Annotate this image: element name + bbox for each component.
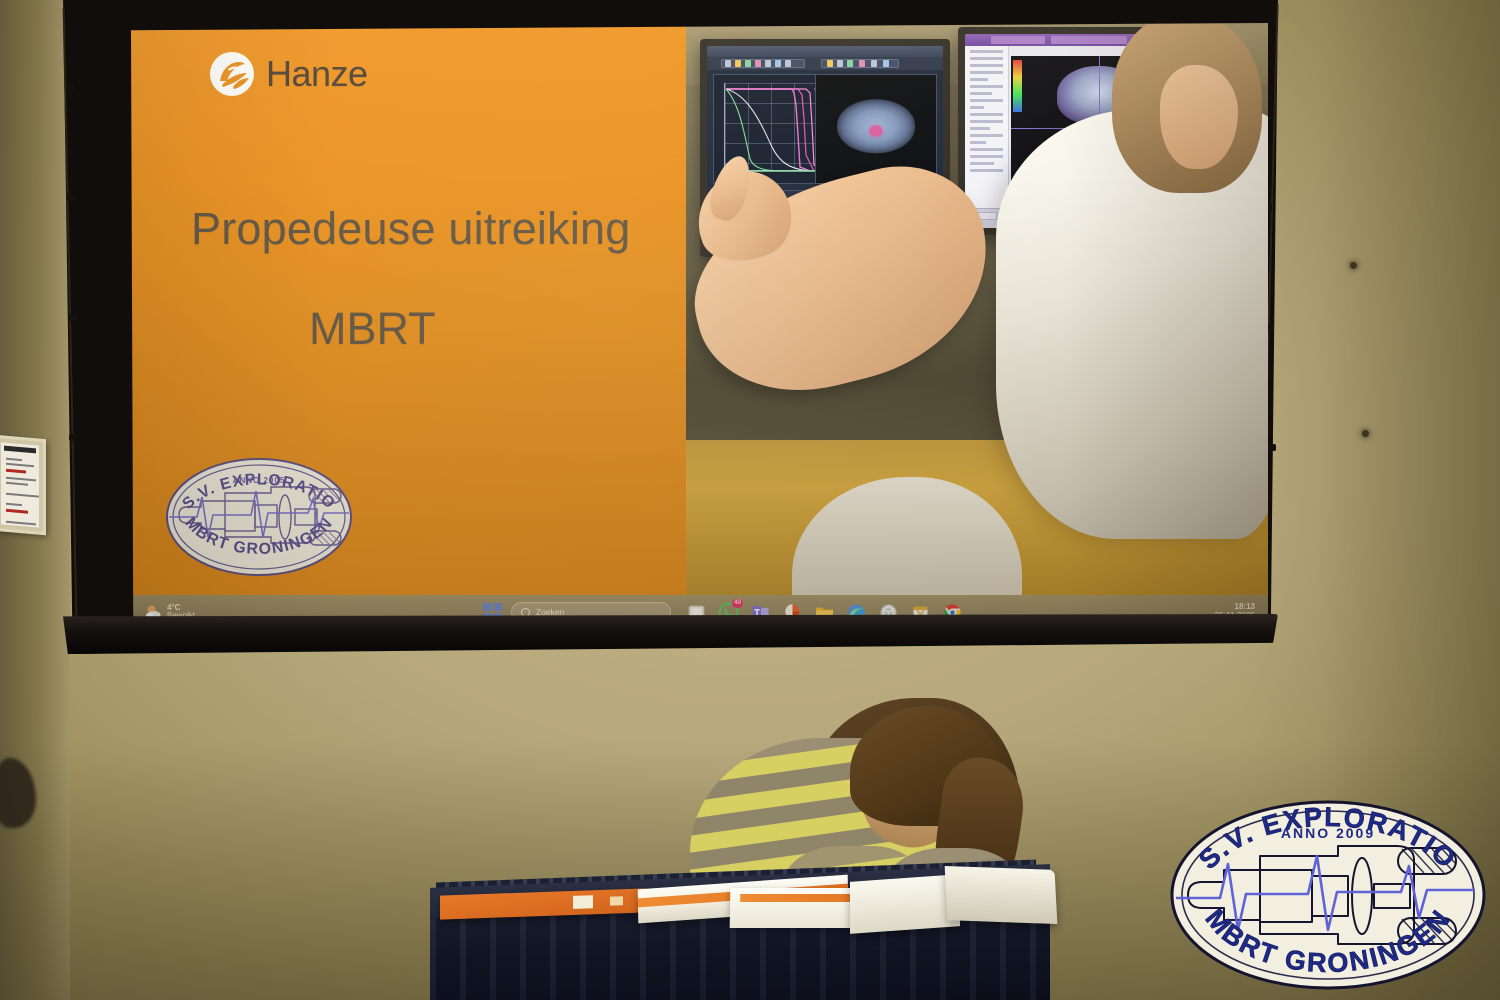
notice-line-red xyxy=(6,469,26,474)
powerpoint-slide: Hanze Propedeuse uitreiking MBRT xyxy=(131,23,1268,595)
cable-clip xyxy=(68,314,77,321)
toolbar-icon xyxy=(765,60,771,67)
photo-person-head xyxy=(1112,23,1262,193)
toolbar-icon xyxy=(775,60,781,67)
exploratio-watermark-logo: S.V. EXPLORATIO ANNO 2009 MBRT GRONINGEN xyxy=(1162,796,1494,994)
hanze-logo: Hanze xyxy=(209,51,368,97)
tps2-tab xyxy=(1051,36,1127,44)
tps2-structure-list xyxy=(965,46,1009,208)
notice-line xyxy=(6,503,22,506)
toolbar-icon xyxy=(745,60,751,67)
folder-page-right xyxy=(945,866,1058,924)
dose-colorbar xyxy=(1013,60,1022,112)
tps-titlebar xyxy=(707,46,943,57)
wall-screw xyxy=(1350,262,1357,269)
toolbar-icon xyxy=(827,60,833,67)
wall-screw xyxy=(1362,430,1369,437)
slide-title-block: Propedeuse uitreiking MBRT xyxy=(131,203,686,355)
svg-text:ANNO 2009: ANNO 2009 xyxy=(1281,825,1375,841)
ct-target-volume xyxy=(870,126,883,137)
notice-line xyxy=(6,521,36,526)
folder-page-left xyxy=(850,874,960,934)
photo-person-face xyxy=(1160,65,1238,169)
notice-line xyxy=(6,463,34,467)
slide-photo: AOC xyxy=(686,23,1268,595)
signing-table xyxy=(430,876,1050,1000)
folder-label xyxy=(573,895,593,909)
notice-line xyxy=(6,477,36,482)
tps-toolbar xyxy=(707,57,943,70)
cable-clip xyxy=(67,194,76,201)
toolbar-group xyxy=(721,59,805,68)
search-icon xyxy=(521,608,530,617)
signing-folder-open xyxy=(850,870,1050,932)
notice-header-bar xyxy=(4,446,36,454)
exploratio-logo-slide: S.V. EXPLORATIO ANNO 2005 MBRT GRONINGEN xyxy=(159,453,359,581)
notice-line xyxy=(6,482,28,486)
toolbar-icon xyxy=(785,60,791,67)
cable-clip xyxy=(66,84,75,91)
projection-screen: Hanze Propedeuse uitreiking MBRT xyxy=(63,0,1278,654)
slide-title: Propedeuse uitreiking xyxy=(131,203,686,255)
svg-text:ANNO 2005: ANNO 2005 xyxy=(233,476,286,485)
toolbar-icon xyxy=(837,60,843,67)
slide-subtitle: MBRT xyxy=(131,303,686,355)
whatsapp-badge: 49 xyxy=(732,599,743,608)
toolbar-icon xyxy=(859,60,865,67)
notice-line xyxy=(6,458,22,461)
cable-clip xyxy=(69,434,78,441)
notice-line-red xyxy=(6,509,28,514)
projected-image: Hanze Propedeuse uitreiking MBRT xyxy=(131,23,1268,629)
folder-label-secondary xyxy=(610,896,623,905)
hanze-wordmark: Hanze xyxy=(266,53,368,95)
tps2-tab xyxy=(991,36,1045,44)
notice-sheet xyxy=(1,442,39,527)
toolbar-icon xyxy=(755,60,761,67)
slide-left-panel: Hanze Propedeuse uitreiking MBRT xyxy=(131,23,686,595)
toolbar-icon xyxy=(871,60,877,67)
wall-notice-frame xyxy=(0,435,46,536)
notice-line xyxy=(6,493,39,498)
toolbar-icon xyxy=(735,60,741,67)
hanze-mark-icon xyxy=(209,51,255,97)
cable-clip xyxy=(1267,444,1276,451)
toolbar-icon xyxy=(883,60,889,67)
toolbar-icon xyxy=(847,60,853,67)
toolbar-icon xyxy=(725,60,731,67)
